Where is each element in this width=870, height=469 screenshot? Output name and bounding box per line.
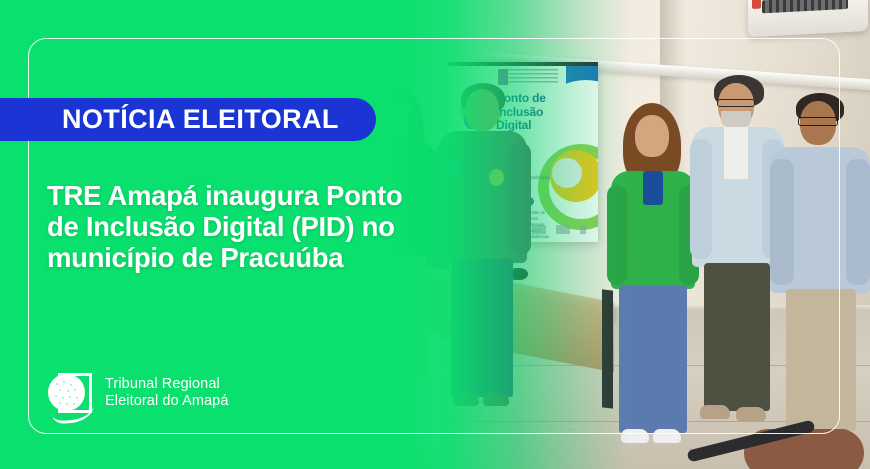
status-badge: NOTÍCIA ELEITORAL [0, 98, 376, 141]
tre-amapa-logo-icon [48, 370, 94, 416]
air-conditioner-icon [748, 0, 868, 37]
headline-line-3: município de Pracuúba [47, 242, 447, 273]
status-badge-label: NOTÍCIA ELEITORAL [62, 104, 339, 135]
page-title: TRE Amapá inaugura Ponto de Inclusão Dig… [47, 180, 447, 273]
news-card: Ponto de Inclusão Digital SERVIÇOS OFERE… [0, 0, 870, 469]
headline-line-2: de Inclusão Digital (PID) no [47, 211, 447, 242]
headline-line-1: TRE Amapá inaugura Ponto [47, 180, 447, 211]
brand-name-line-2: Eleitoral do Amapá [105, 393, 229, 410]
brand-name: Tribunal Regional Eleitoral do Amapá [105, 376, 229, 410]
brand-name-line-1: Tribunal Regional [105, 376, 229, 393]
ac-indicator-icon [752, 0, 761, 9]
ac-vents [762, 0, 848, 13]
brand-logo: Tribunal Regional Eleitoral do Amapá [48, 370, 229, 416]
